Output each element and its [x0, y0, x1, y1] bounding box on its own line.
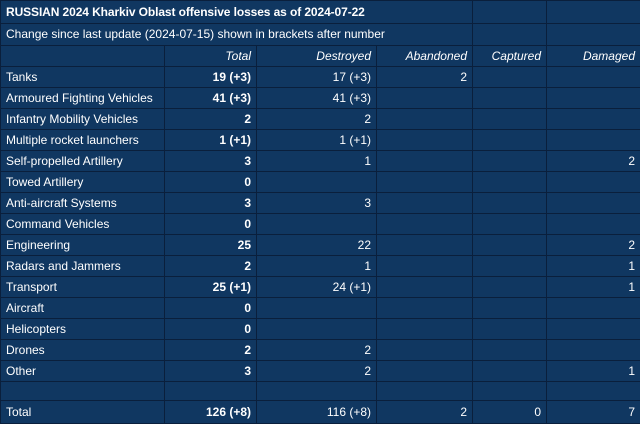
- row-label: Engineering: [1, 235, 165, 256]
- cell-damaged: [547, 88, 640, 109]
- cell-destroyed: [257, 298, 377, 319]
- row-label: Radars and Jammers: [1, 256, 165, 277]
- cell-abandoned: [377, 298, 473, 319]
- spacer-cell-total: [165, 382, 257, 401]
- cell-total: 3: [165, 151, 257, 172]
- cell-destroyed: 2: [257, 361, 377, 382]
- cell-captured: [473, 151, 547, 172]
- cell-total: 3: [165, 361, 257, 382]
- spacer-row: [1, 382, 640, 401]
- cell-abandoned: [377, 361, 473, 382]
- table-row: Infantry Mobility Vehicles 2 2: [1, 109, 640, 130]
- total-cell-captured: 0: [473, 401, 547, 424]
- cell-damaged: [547, 319, 640, 340]
- cell-captured: [473, 298, 547, 319]
- table-row: Transport 25 (+1) 24 (+1) 1: [1, 277, 640, 298]
- table-row: Anti-aircraft Systems 3 3: [1, 193, 640, 214]
- row-label: Anti-aircraft Systems: [1, 193, 165, 214]
- table-body: RUSSIAN 2024 Kharkiv Oblast offensive lo…: [1, 1, 640, 424]
- subtitle-row: Change since last update (2024-07-15) sh…: [1, 24, 640, 46]
- cell-abandoned: [377, 319, 473, 340]
- cell-damaged: 1: [547, 277, 640, 298]
- cell-captured: [473, 361, 547, 382]
- table-row: Self-propelled Artillery 3 1 2: [1, 151, 640, 172]
- row-label: Other: [1, 361, 165, 382]
- cell-total: 2: [165, 340, 257, 361]
- table-row: Radars and Jammers 2 1 1: [1, 256, 640, 277]
- cell-captured: [473, 109, 547, 130]
- cell-destroyed: 22: [257, 235, 377, 256]
- cell-abandoned: [377, 235, 473, 256]
- column-header-destroyed: Destroyed: [257, 46, 377, 67]
- cell-destroyed: 41 (+3): [257, 88, 377, 109]
- cell-damaged: [547, 172, 640, 193]
- cell-captured: [473, 172, 547, 193]
- title-row-filler-damaged: [547, 1, 640, 24]
- column-header-category: [1, 46, 165, 67]
- cell-destroyed: 2: [257, 340, 377, 361]
- row-label: Helicopters: [1, 319, 165, 340]
- cell-captured: [473, 235, 547, 256]
- cell-captured: [473, 319, 547, 340]
- row-label: Transport: [1, 277, 165, 298]
- cell-damaged: [547, 193, 640, 214]
- cell-abandoned: [377, 151, 473, 172]
- cell-total: 25: [165, 235, 257, 256]
- cell-damaged: 2: [547, 235, 640, 256]
- total-cell-abandoned: 2: [377, 401, 473, 424]
- cell-damaged: [547, 130, 640, 151]
- cell-total: 1 (+1): [165, 130, 257, 151]
- cell-captured: [473, 277, 547, 298]
- cell-abandoned: [377, 193, 473, 214]
- cell-total: 2: [165, 109, 257, 130]
- subtitle-row-filler-captured: [473, 24, 547, 46]
- table-row: Helicopters 0: [1, 319, 640, 340]
- spacer-cell-abandoned: [377, 382, 473, 401]
- column-header-total: Total: [165, 46, 257, 67]
- column-header-row: Total Destroyed Abandoned Captured Damag…: [1, 46, 640, 67]
- cell-damaged: [547, 340, 640, 361]
- cell-total: 2: [165, 256, 257, 277]
- cell-total: 0: [165, 298, 257, 319]
- cell-total: 0: [165, 319, 257, 340]
- row-label: Self-propelled Artillery: [1, 151, 165, 172]
- cell-destroyed: [257, 214, 377, 235]
- total-row: Total 126 (+8) 116 (+8) 2 0 7: [1, 401, 640, 424]
- cell-destroyed: 1: [257, 256, 377, 277]
- table-row: Aircraft 0: [1, 298, 640, 319]
- cell-abandoned: [377, 256, 473, 277]
- row-label: Infantry Mobility Vehicles: [1, 109, 165, 130]
- row-label: Tanks: [1, 67, 165, 88]
- cell-total: 3: [165, 193, 257, 214]
- cell-captured: [473, 256, 547, 277]
- cell-destroyed: [257, 319, 377, 340]
- subtitle-row-filler-damaged: [547, 24, 640, 46]
- spacer-cell-destroyed: [257, 382, 377, 401]
- cell-captured: [473, 340, 547, 361]
- spreadsheet-sheet: RUSSIAN 2024 Kharkiv Oblast offensive lo…: [0, 0, 640, 405]
- cell-abandoned: [377, 172, 473, 193]
- row-label: Towed Artillery: [1, 172, 165, 193]
- cell-abandoned: [377, 130, 473, 151]
- title-row-filler-captured: [473, 1, 547, 24]
- title-row: RUSSIAN 2024 Kharkiv Oblast offensive lo…: [1, 1, 640, 24]
- cell-damaged: [547, 67, 640, 88]
- row-label: Aircraft: [1, 298, 165, 319]
- table-row: Engineering 25 22 2: [1, 235, 640, 256]
- cell-captured: [473, 214, 547, 235]
- cell-destroyed: 3: [257, 193, 377, 214]
- subtitle-note: Change since last update (2024-07-15) sh…: [1, 24, 473, 46]
- spacer-cell-label: [1, 382, 165, 401]
- cell-total: 41 (+3): [165, 88, 257, 109]
- cell-damaged: [547, 214, 640, 235]
- column-header-abandoned: Abandoned: [377, 46, 473, 67]
- cell-damaged: 1: [547, 256, 640, 277]
- row-label: Armoured Fighting Vehicles: [1, 88, 165, 109]
- cell-abandoned: [377, 277, 473, 298]
- cell-abandoned: [377, 88, 473, 109]
- table-row: Tanks 19 (+3) 17 (+3) 2: [1, 67, 640, 88]
- cell-captured: [473, 88, 547, 109]
- cell-damaged: [547, 298, 640, 319]
- cell-captured: [473, 130, 547, 151]
- total-cell-total: 126 (+8): [165, 401, 257, 424]
- cell-destroyed: 1: [257, 151, 377, 172]
- column-header-captured: Captured: [473, 46, 547, 67]
- row-label: Multiple rocket launchers: [1, 130, 165, 151]
- total-row-label: Total: [1, 401, 165, 424]
- spacer-cell-damaged: [547, 382, 640, 401]
- cell-destroyed: 2: [257, 109, 377, 130]
- page-title: RUSSIAN 2024 Kharkiv Oblast offensive lo…: [1, 1, 473, 24]
- cell-abandoned: [377, 109, 473, 130]
- cell-damaged: 1: [547, 361, 640, 382]
- cell-damaged: [547, 109, 640, 130]
- cell-captured: [473, 67, 547, 88]
- row-label: Drones: [1, 340, 165, 361]
- cell-abandoned: 2: [377, 67, 473, 88]
- cell-total: 0: [165, 214, 257, 235]
- cell-total: 25 (+1): [165, 277, 257, 298]
- cell-total: 19 (+3): [165, 67, 257, 88]
- table-row: Armoured Fighting Vehicles 41 (+3) 41 (+…: [1, 88, 640, 109]
- cell-destroyed: 1 (+1): [257, 130, 377, 151]
- cell-captured: [473, 193, 547, 214]
- table-row: Other 3 2 1: [1, 361, 640, 382]
- cell-damaged: 2: [547, 151, 640, 172]
- table-row: Multiple rocket launchers 1 (+1) 1 (+1): [1, 130, 640, 151]
- table-row: Towed Artillery 0: [1, 172, 640, 193]
- cell-destroyed: [257, 172, 377, 193]
- cell-destroyed: 24 (+1): [257, 277, 377, 298]
- table-row: Command Vehicles 0: [1, 214, 640, 235]
- cell-total: 0: [165, 172, 257, 193]
- cell-abandoned: [377, 214, 473, 235]
- column-header-damaged: Damaged: [547, 46, 640, 67]
- spacer-cell-captured: [473, 382, 547, 401]
- cell-destroyed: 17 (+3): [257, 67, 377, 88]
- total-cell-damaged: 7: [547, 401, 640, 424]
- losses-table: RUSSIAN 2024 Kharkiv Oblast offensive lo…: [0, 0, 640, 424]
- row-label: Command Vehicles: [1, 214, 165, 235]
- table-row: Drones 2 2: [1, 340, 640, 361]
- cell-abandoned: [377, 340, 473, 361]
- total-cell-destroyed: 116 (+8): [257, 401, 377, 424]
